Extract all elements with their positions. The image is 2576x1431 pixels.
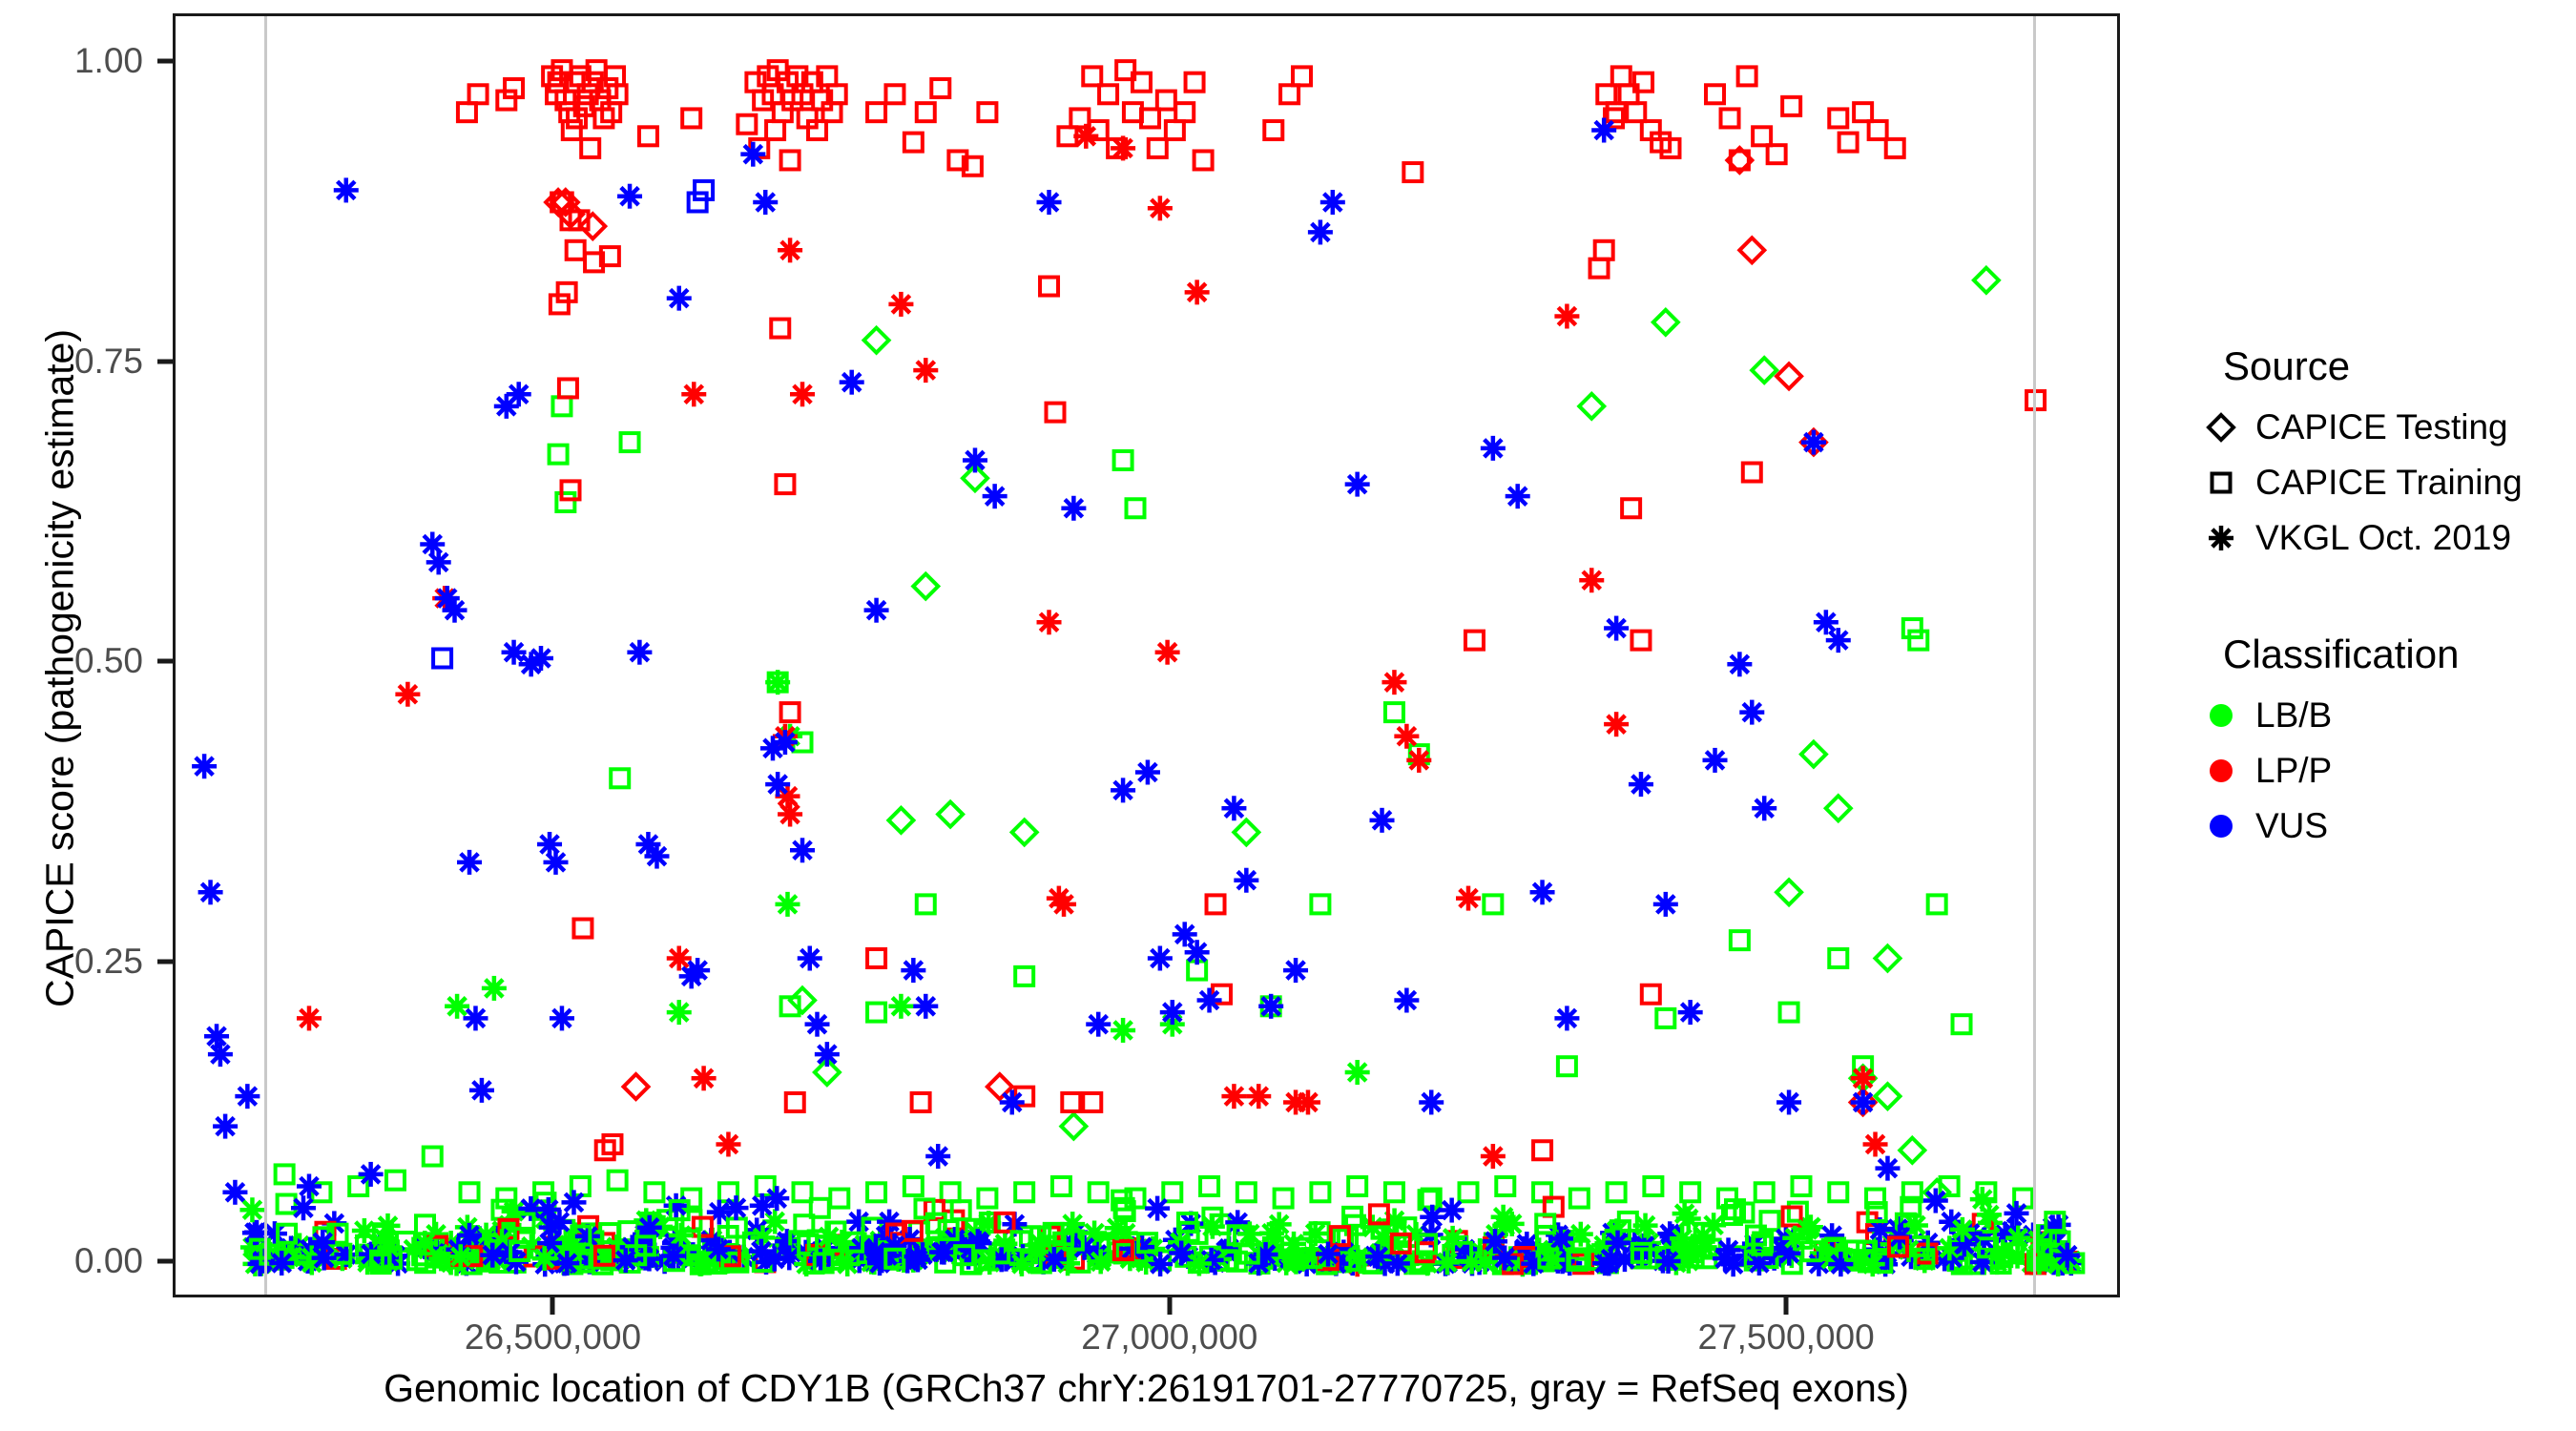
legend-title-source: Source bbox=[2223, 343, 2576, 389]
legend-item-lp-p[interactable]: LP/P bbox=[2194, 746, 2576, 796]
series-VUS-square bbox=[433, 181, 713, 668]
legend-item-label: VUS bbox=[2255, 806, 2328, 846]
legend-item-vkgl-oct-2019[interactable]: VKGL Oct. 2019 bbox=[2194, 513, 2576, 563]
legend-item-label: LP/P bbox=[2255, 751, 2332, 791]
asterisk-marker-icon bbox=[2194, 517, 2248, 559]
square-marker-icon bbox=[2194, 462, 2248, 504]
legend-item-vus[interactable]: VUS bbox=[2194, 801, 2576, 851]
diamond-marker-icon bbox=[2194, 406, 2248, 448]
x-tick-label: 26,500,000 bbox=[465, 1317, 641, 1358]
y-tick-mark bbox=[157, 959, 173, 964]
green-circle-icon bbox=[2194, 695, 2248, 736]
red-circle-icon bbox=[2194, 750, 2248, 792]
series-VUS-asterisk bbox=[192, 118, 1900, 1205]
series-LB-B-asterisk bbox=[445, 670, 1370, 1085]
exon-line-2 bbox=[2033, 16, 2036, 1295]
x-tick-mark bbox=[1167, 1297, 1172, 1315]
x-tick-mark bbox=[1784, 1297, 1789, 1315]
plot-panel bbox=[173, 13, 2120, 1297]
legend-title-classification: Classification bbox=[2223, 632, 2576, 677]
y-tick-mark bbox=[157, 59, 173, 64]
legend-item-label: CAPICE Testing bbox=[2255, 407, 2508, 447]
exon-line-1 bbox=[264, 16, 267, 1295]
legend: SourceCAPICE TestingCAPICE TrainingVKGL … bbox=[2194, 343, 2576, 857]
legend-item-lb-b[interactable]: LB/B bbox=[2194, 691, 2576, 740]
legend-item-label: LB/B bbox=[2255, 695, 2332, 736]
y-tick-mark bbox=[157, 659, 173, 664]
x-tick-mark bbox=[551, 1297, 555, 1315]
scatter-plot-figure: 0.000.250.500.751.00 26,500,00027,000,00… bbox=[0, 0, 2576, 1431]
blue-circle-icon bbox=[2194, 805, 2248, 847]
legend-group-spacer bbox=[2194, 569, 2576, 632]
legend-item-label: CAPICE Training bbox=[2255, 463, 2523, 503]
legend-item-capice-training[interactable]: CAPICE Training bbox=[2194, 458, 2576, 508]
scatter-points-layer bbox=[176, 16, 2120, 1297]
series-LP-P-asterisk bbox=[297, 124, 1888, 1276]
x-tick-label: 27,000,000 bbox=[1081, 1317, 1257, 1358]
series-LP-P-diamond bbox=[546, 148, 1876, 1114]
legend-item-label: VKGL Oct. 2019 bbox=[2255, 518, 2511, 558]
y-tick-mark bbox=[157, 359, 173, 363]
series-LP-P-square bbox=[458, 61, 2045, 1159]
legend-item-capice-testing[interactable]: CAPICE Testing bbox=[2194, 403, 2576, 452]
x-axis-title: Genomic location of CDY1B (GRCh37 chrY:2… bbox=[173, 1366, 2120, 1411]
y-axis-title: CAPICE score (pathogenicity estimate) bbox=[38, 27, 83, 1311]
y-tick-mark bbox=[157, 1259, 173, 1264]
x-tick-label: 27,500,000 bbox=[1697, 1317, 1874, 1358]
